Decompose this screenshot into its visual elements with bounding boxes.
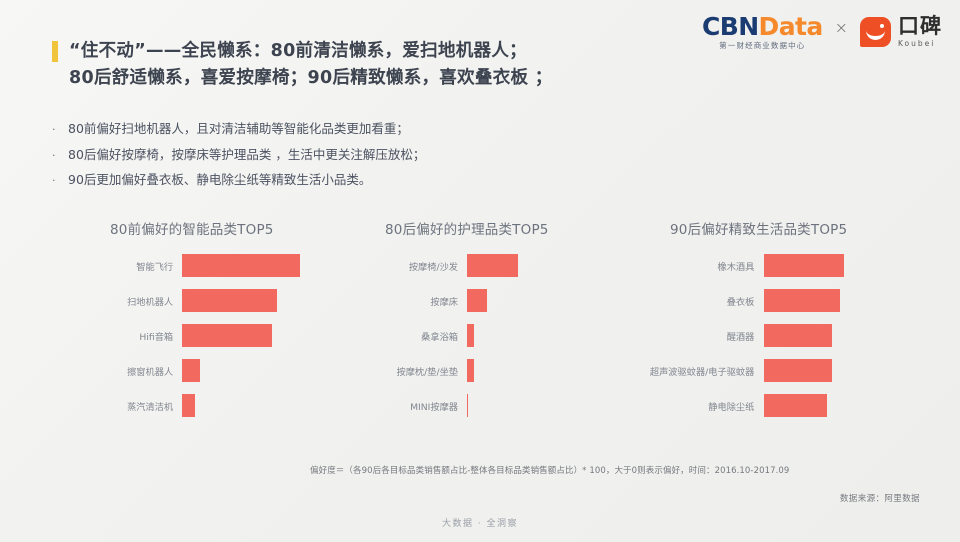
bar-row: 擦窗机器人 (110, 353, 360, 388)
koubei-logo: 口碑 Koubei (860, 16, 942, 48)
chart-80hou-care: 80后偏好的护理品类TOP5 按摩椅/沙发按摩床桑拿浴箱按摩枕/垫/坐垫MINI… (385, 218, 635, 238)
cbndata-logo: CBNData 第一财经商业数据中心 (702, 14, 823, 50)
brand-header: CBNData 第一财经商业数据中心 × 口碑 Koubei (702, 14, 942, 50)
bar-category-label: 蒸汽清洁机 (111, 399, 181, 413)
footnote-text: 偏好度＝（各90后各目标品类销售额占比-整体各目标品类销售额占比）* 100，大… (310, 464, 789, 476)
bar-category-label: 超声波驱蚊器/电子驱蚊器 (640, 364, 762, 378)
bullet-marker-icon: · (52, 145, 68, 168)
list-item: · 80前偏好扫地机器人，且对清洁辅助等智能化品类更加看重； (52, 116, 425, 142)
bar-category-label: Hifi音箱 (111, 329, 181, 343)
bar-category-label: MINI按摩器 (386, 399, 466, 413)
bar-track (467, 353, 635, 388)
bar-row: 按摩椅/沙发 (385, 248, 635, 283)
bar-category-label: 按摩床 (386, 294, 466, 308)
koubei-name-en: Koubei (898, 40, 942, 48)
bar-fill (182, 324, 272, 347)
bar-track (467, 248, 635, 283)
bar-fill (182, 359, 200, 382)
bar-row: MINI按摩器 (385, 388, 635, 423)
chart-90hou-lifestyle: 90后偏好精致生活品类TOP5 橡木酒具叠衣板醒酒器超声波驱蚊器/电子驱蚊器静电… (638, 218, 938, 238)
bullet-text: 90后更加偏好叠衣板、静电除尘纸等精致生活小品类。 (68, 167, 371, 193)
bullet-text: 80后偏好按摩椅，按摩床等护理品类 ，生活中更关注解压放松； (68, 142, 425, 168)
bar-track (182, 353, 360, 388)
bar-track (764, 318, 938, 353)
bar-fill (764, 359, 832, 382)
bar-track (764, 388, 938, 423)
bar-track (467, 388, 635, 423)
bar-row: 按摩床 (385, 283, 635, 318)
bar-row: 桑拿浴箱 (385, 318, 635, 353)
title-line-2: 80后舒适懒系，喜爱按摩椅；90后精致懒系，喜欢叠衣板 ； (69, 65, 553, 92)
bar-fill (467, 394, 468, 417)
bar-track (467, 318, 635, 353)
bar-track (182, 388, 360, 423)
koubei-smiley-icon (860, 17, 891, 47)
bar-track (467, 283, 635, 318)
cbndata-wordmark-cbn: CBN (702, 12, 759, 41)
bar-track (182, 248, 360, 283)
list-item: · 90后更加偏好叠衣板、静电除尘纸等精致生活小品类。 (52, 167, 425, 193)
bar-category-label: 静电除尘纸 (640, 399, 762, 413)
chart-80qian-smart: 80前偏好的智能品类TOP5 智能飞行扫地机器人Hifi音箱擦窗机器人蒸汽清洁机 (110, 218, 360, 238)
bar-fill (182, 254, 300, 277)
bar-fill (764, 324, 832, 347)
bar-category-label: 叠衣板 (640, 294, 762, 308)
chart-title: 80后偏好的护理品类TOP5 (385, 218, 635, 238)
bar-row: 静电除尘纸 (638, 388, 938, 423)
bar-row: 叠衣板 (638, 283, 938, 318)
bullet-marker-icon: · (52, 170, 68, 193)
chart-bars: 按摩椅/沙发按摩床桑拿浴箱按摩枕/垫/坐垫MINI按摩器 (385, 248, 635, 423)
bullet-marker-icon: · (52, 119, 68, 142)
footer-tagline: 大数据 · 全洞察 (0, 516, 960, 529)
bar-row: 扫地机器人 (110, 283, 360, 318)
bar-track (764, 248, 938, 283)
bar-row: 按摩枕/垫/坐垫 (385, 353, 635, 388)
koubei-text: 口碑 Koubei (898, 16, 942, 48)
bar-category-label: 醒酒器 (640, 329, 762, 343)
chart-title: 80前偏好的智能品类TOP5 (110, 218, 360, 238)
bar-row: 醒酒器 (638, 318, 938, 353)
title-line-1: “住不动”——全民懒系：80前清洁懒系，爱扫地机器人； (69, 38, 553, 65)
bar-fill (467, 254, 518, 277)
bar-row: 智能飞行 (110, 248, 360, 283)
bar-category-label: 按摩枕/垫/坐垫 (386, 364, 466, 378)
chart-title: 90后偏好精致生活品类TOP5 (670, 218, 938, 238)
cbndata-subtitle: 第一财经商业数据中心 (719, 42, 805, 49)
list-item: · 80后偏好按摩椅，按摩床等护理品类 ，生活中更关注解压放松； (52, 142, 425, 168)
title-accent-bar (52, 41, 58, 62)
bullet-list: · 80前偏好扫地机器人，且对清洁辅助等智能化品类更加看重； · 80后偏好按摩… (52, 116, 425, 193)
bar-category-label: 桑拿浴箱 (386, 329, 466, 343)
bar-category-label: 擦窗机器人 (111, 364, 181, 378)
bar-row: 蒸汽清洁机 (110, 388, 360, 423)
koubei-name-cn: 口碑 (898, 16, 942, 37)
bar-category-label: 扫地机器人 (111, 294, 181, 308)
title-text: “住不动”——全民懒系：80前清洁懒系，爱扫地机器人； 80后舒适懒系，喜爱按摩… (69, 38, 553, 92)
bar-track (764, 353, 938, 388)
bar-fill (764, 394, 827, 417)
bar-fill (467, 324, 474, 347)
bar-fill (764, 254, 844, 277)
cbndata-wordmark: CBNData (702, 14, 823, 39)
bar-fill (467, 359, 474, 382)
bar-fill (182, 289, 277, 312)
slide-canvas: CBNData 第一财经商业数据中心 × 口碑 Koubei “住不动”——全民… (0, 0, 960, 542)
cbndata-wordmark-data: Data (759, 12, 823, 41)
data-source-text: 数据来源：阿里数据 (840, 492, 920, 504)
brand-separator-x: × (835, 18, 848, 37)
charts-area: 80前偏好的智能品类TOP5 智能飞行扫地机器人Hifi音箱擦窗机器人蒸汽清洁机… (0, 218, 960, 443)
bar-track (182, 283, 360, 318)
page-title: “住不动”——全民懒系：80前清洁懒系，爱扫地机器人； 80后舒适懒系，喜爱按摩… (52, 38, 553, 92)
bar-row: Hifi音箱 (110, 318, 360, 353)
bullet-text: 80前偏好扫地机器人，且对清洁辅助等智能化品类更加看重； (68, 116, 409, 142)
bar-category-label: 橡木酒具 (640, 259, 762, 273)
bar-category-label: 按摩椅/沙发 (386, 259, 466, 273)
bar-row: 超声波驱蚊器/电子驱蚊器 (638, 353, 938, 388)
bar-fill (764, 289, 840, 312)
bar-track (764, 283, 938, 318)
bar-fill (182, 394, 195, 417)
bar-row: 橡木酒具 (638, 248, 938, 283)
chart-bars: 智能飞行扫地机器人Hifi音箱擦窗机器人蒸汽清洁机 (110, 248, 360, 423)
bar-category-label: 智能飞行 (111, 259, 181, 273)
chart-bars: 橡木酒具叠衣板醒酒器超声波驱蚊器/电子驱蚊器静电除尘纸 (638, 248, 938, 423)
bar-fill (467, 289, 487, 312)
bar-track (182, 318, 360, 353)
